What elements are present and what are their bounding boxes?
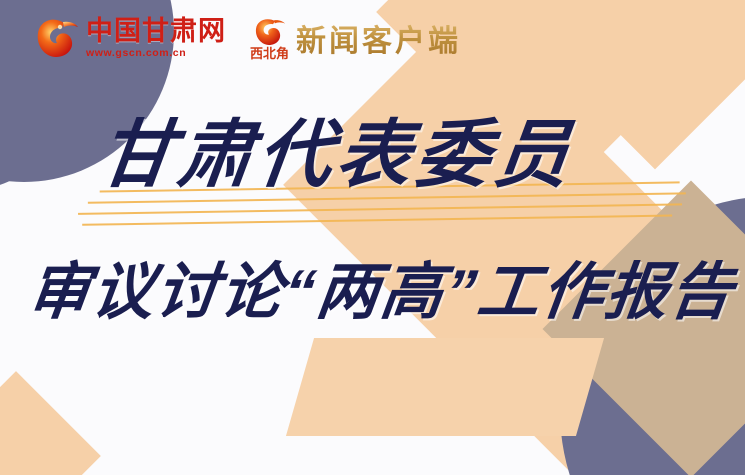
poster-canvas: 中国甘肃网 www.gscn.com.cn 西北角 — [0, 0, 745, 475]
app-name-label: 新闻客户端 — [296, 16, 461, 60]
gscn-url: www.gscn.com.cn — [86, 48, 226, 59]
headline-line-2: 审议讨论“两高”工作报告 — [24, 262, 738, 324]
gold-rule-line — [82, 215, 672, 226]
xibeijiao-swoosh-icon — [254, 16, 286, 46]
xibeijiao-label: 西北角 — [250, 47, 289, 60]
gscn-site-name: 中国甘肃网 — [86, 18, 226, 45]
gold-rule-line — [78, 203, 682, 214]
gscn-swoosh-icon — [34, 14, 80, 62]
peach-parallelogram-bottom — [286, 338, 604, 436]
gscn-text-block: 中国甘肃网 www.gscn.com.cn — [86, 18, 226, 59]
xibeijiao-logo: 西北角 — [250, 16, 289, 60]
app-logo[interactable]: 西北角 新闻客户端 — [250, 16, 461, 60]
peach-wedge-bottom-left — [0, 371, 101, 475]
headline-line-1: 甘肃代表委员 — [95, 118, 578, 192]
background-decoration — [0, 0, 745, 475]
gscn-logo[interactable]: 中国甘肃网 www.gscn.com.cn — [34, 14, 226, 62]
masthead: 中国甘肃网 www.gscn.com.cn 西北角 — [34, 14, 461, 62]
